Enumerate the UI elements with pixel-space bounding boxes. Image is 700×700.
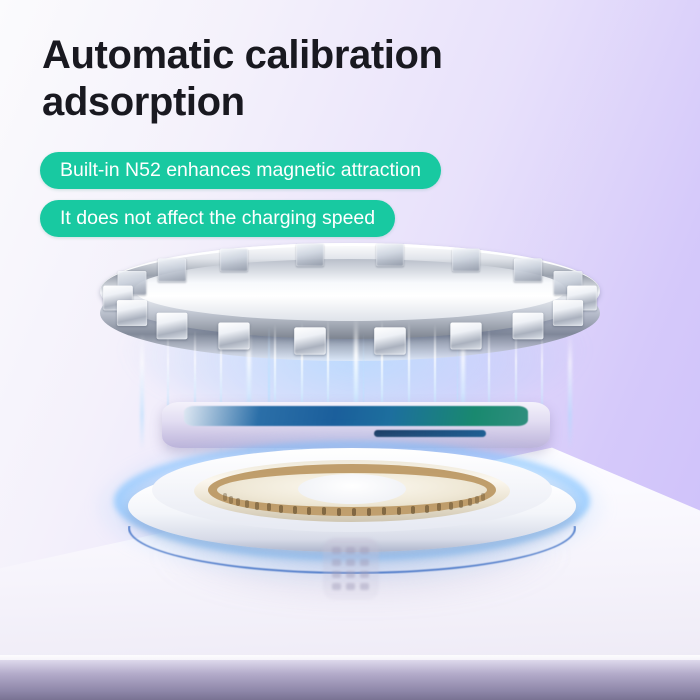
product-banner: Automatic calibration adsorption Built-i… [0,0,700,700]
phone-back-panel [184,406,528,426]
magnet-segment [294,328,325,355]
headline-line-2: adsorption [42,79,602,126]
feature-badge-charging-speed: It does not affect the charging speed [40,200,395,237]
magnet-segment [553,300,583,326]
magnet-segment [512,313,543,339]
magnet-segment [117,300,147,326]
magnet-segment [158,258,186,281]
light-beam [568,334,572,450]
magnet-segment [296,243,324,265]
headline-line-1: Automatic calibration [42,32,602,79]
magnet-segment [220,249,248,272]
page-title: Automatic calibration adsorption [42,32,602,126]
magnet-segment [452,249,480,272]
magnet-segment [218,323,249,350]
magnet-segment [157,313,188,339]
feature-badge-magnetic: Built-in N52 enhances magnetic attractio… [40,152,441,189]
magnet-segment [377,243,405,265]
light-beam [140,334,144,450]
charger-center-hub [298,474,406,504]
phone-reflection-ghost [323,538,379,600]
magnet-segment [514,258,542,281]
desk-front-edge [0,660,700,700]
magnet-segment [375,328,406,355]
magnet-segment [450,323,481,350]
